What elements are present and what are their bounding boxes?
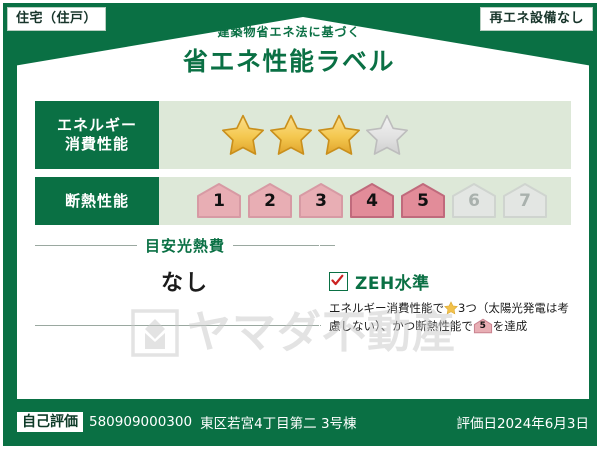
utility-cost-heading: 目安光熱費 (35, 235, 335, 256)
insulation-level-6: 6 (450, 182, 498, 220)
insulation-performance-value-cell: 1234567 (159, 177, 571, 225)
insulation-badge-value: 5 (473, 322, 493, 331)
utility-cost-heading-text: 目安光熱費 (145, 235, 225, 256)
star-icon-empty (365, 113, 409, 157)
insulation-level-number: 5 (399, 193, 447, 210)
self-assessment-badge: 自己評価 (17, 412, 83, 433)
insulation-level-scale: 1234567 (195, 182, 549, 220)
zeh-checkbox[interactable] (329, 272, 348, 291)
star-icon-filled (221, 113, 265, 157)
energy-performance-label: 住宅（住戸） 再エネ設備なし 建築物省エネ法に基づく 省エネ性能ラベル エネルギ… (0, 0, 600, 449)
insulation-performance-label-cell: 断熱性能 (35, 177, 159, 225)
insulation-level-5: 5 (399, 182, 447, 220)
insulation-badge-icon: 5 (473, 318, 493, 334)
zeh-description: エネルギー消費性能で3つ（太陽光発電は考慮しない）、かつ断熱性能で5を達成 (329, 300, 575, 336)
utility-cost-rule (35, 325, 321, 326)
check-icon (331, 274, 344, 287)
insulation-label: 断熱性能 (65, 192, 129, 211)
insulation-level-number: 3 (297, 193, 345, 210)
insulation-level-7: 7 (501, 182, 549, 220)
insulation-level-1: 1 (195, 182, 243, 220)
utility-cost-value: なし (35, 265, 335, 297)
star-rating (221, 113, 409, 157)
energy-label-line2: 消費性能 (65, 135, 129, 154)
zeh-desc-part3: を達成 (493, 319, 528, 333)
star-icon-filled (269, 113, 313, 157)
insulation-level-number: 1 (195, 193, 243, 210)
insulation-level-number: 7 (501, 193, 549, 210)
energy-label-line1: エネルギー (57, 116, 137, 135)
zeh-heading: ZEH水準 (329, 269, 575, 294)
energy-performance-value-cell (159, 101, 571, 169)
energy-performance-row: エネルギー 消費性能 (35, 101, 571, 169)
footer-address: 東区若宮4丁目第二 3号棟 (200, 412, 356, 432)
insulation-performance-row: 断熱性能 1234567 (35, 177, 571, 225)
insulation-level-4: 4 (348, 182, 396, 220)
star-icon-filled (317, 113, 361, 157)
insulation-level-number: 6 (450, 193, 498, 210)
zeh-section: ZEH水準 エネルギー消費性能で3つ（太陽光発電は考慮しない）、かつ断熱性能で5… (329, 269, 575, 336)
header-titles: 建築物省エネ法に基づく 省エネ性能ラベル (3, 23, 575, 78)
vertical-separator (319, 239, 320, 343)
renewable-equipment-tag: 再エネ設備なし (480, 7, 593, 31)
divider-line-left (35, 245, 137, 246)
zeh-title: ZEH水準 (355, 269, 430, 294)
insulation-level-3: 3 (297, 182, 345, 220)
label-body-panel: エネルギー 消費性能 断熱性能 1234567 目安光熱費 なし (17, 93, 589, 399)
page-title: 省エネ性能ラベル (3, 42, 575, 78)
footer-id: 580909000300 (89, 414, 192, 430)
energy-performance-label-cell: エネルギー 消費性能 (35, 101, 159, 169)
insulation-level-2: 2 (246, 182, 294, 220)
star-icon (444, 301, 458, 315)
building-type-tag: 住宅（住戸） (7, 7, 106, 31)
footer: 自己評価 580909000300 東区若宮4丁目第二 3号棟 評価日2024年… (17, 407, 589, 437)
insulation-level-number: 2 (246, 193, 294, 210)
footer-date: 評価日2024年6月3日 (456, 412, 589, 432)
zeh-desc-part1: エネルギー消費性能で (329, 301, 444, 315)
insulation-level-number: 4 (348, 193, 396, 210)
